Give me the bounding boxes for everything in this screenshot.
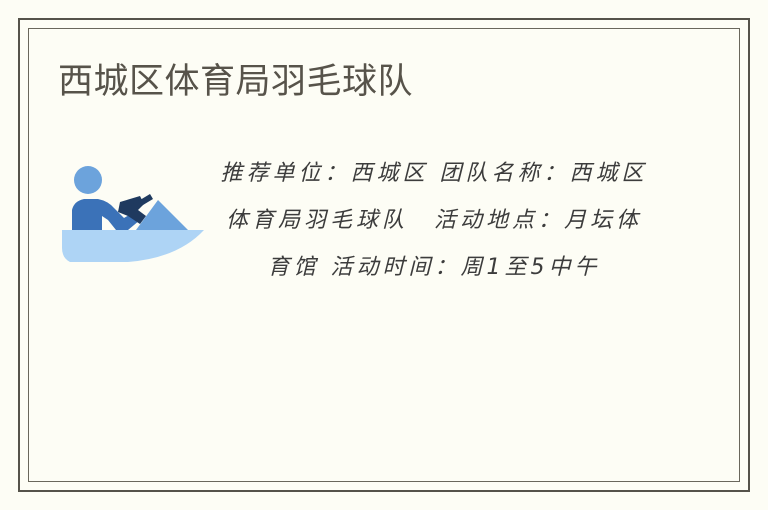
team-info-text: 推荐单位：西城区 团队名称：西城区体育局羽毛球队 活动地点：月坛体育馆 活动时间… <box>214 150 654 291</box>
card-body: 推荐单位：西城区 团队名称：西城区体育局羽毛球队 活动地点：月坛体育馆 活动时间… <box>28 150 740 360</box>
card-content: 西城区体育局羽毛球队 推荐单位：西城区 团队名称：西城区体育局羽毛 <box>28 28 740 482</box>
page-title: 西城区体育局羽毛球队 <box>58 60 413 104</box>
poster-card: 西城区体育局羽毛球队 推荐单位：西城区 团队名称：西城区体育局羽毛 <box>0 0 768 510</box>
badminton-player-illustration <box>58 158 208 270</box>
